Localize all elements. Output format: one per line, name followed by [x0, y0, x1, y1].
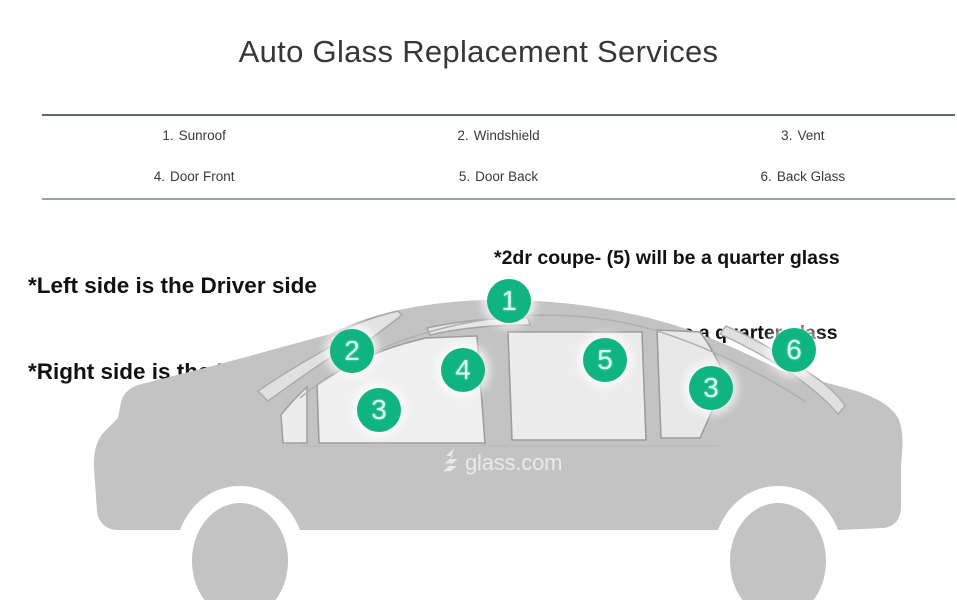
legend-item-vent: 3.Vent [651, 116, 955, 153]
legend-item-label: Vent [797, 128, 824, 143]
badge-4-door-front[interactable]: 4 [441, 348, 485, 392]
badge-5-door-back[interactable]: 5 [583, 338, 627, 382]
legend-item-number: 4. [154, 169, 165, 184]
legend-item-label: Windshield [474, 128, 540, 143]
legend-item-label: Sunroof [179, 128, 226, 143]
glass-legend-table: 1.Sunroof 2.Windshield 3.Vent 4.Door Fro… [42, 114, 955, 200]
car-side-view-illustration [0, 268, 957, 600]
legend-item-number: 5. [459, 169, 470, 184]
badge-2-windshield[interactable]: 2 [330, 329, 374, 373]
legend-item-label: Back Glass [777, 169, 845, 184]
legend-item-windshield: 2.Windshield [346, 116, 650, 153]
legend-item-door-front: 4.Door Front [42, 153, 346, 199]
badge-3-vent-front[interactable]: 3 [357, 388, 401, 432]
legend-row: 1.Sunroof 2.Windshield 3.Vent [42, 116, 955, 153]
legend-item-label: Door Back [475, 169, 538, 184]
badge-1-sunroof[interactable]: 1 [487, 279, 531, 323]
legend-item-number: 1. [162, 128, 173, 143]
glass-com-watermark: glass.com [441, 448, 562, 478]
rear-door-window-glass [508, 332, 646, 440]
legend-item-number: 6. [761, 169, 772, 184]
badge-3-vent-rear[interactable]: 3 [689, 366, 733, 410]
page-title: Auto Glass Replacement Services [0, 34, 957, 70]
watermark-text: glass.com [465, 452, 562, 474]
legend-item-number: 3. [781, 128, 792, 143]
legend-item-back-glass: 6.Back Glass [651, 153, 955, 199]
badge-6-back-glass[interactable]: 6 [772, 328, 816, 372]
legend-item-sunroof: 1.Sunroof [42, 116, 346, 153]
legend-item-number: 2. [457, 128, 468, 143]
legend-item-label: Door Front [170, 169, 235, 184]
auto-glass-diagram-page: Auto Glass Replacement Services 1.Sunroo… [0, 0, 957, 600]
legend-item-door-back: 5.Door Back [346, 153, 650, 199]
legend-row: 4.Door Front 5.Door Back 6.Back Glass [42, 153, 955, 199]
glass-com-logo-icon [441, 448, 458, 478]
